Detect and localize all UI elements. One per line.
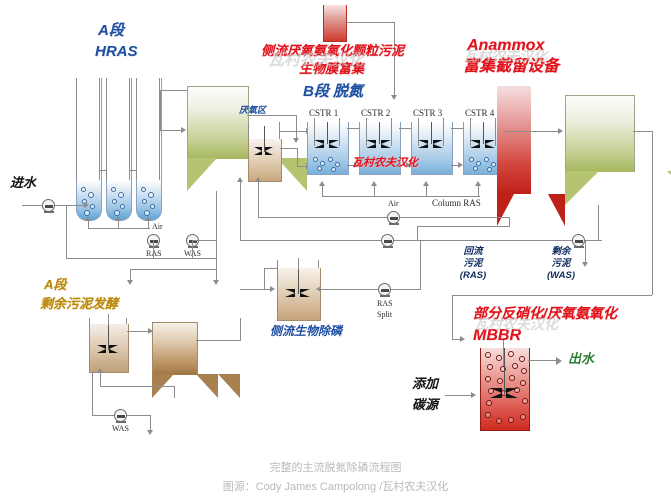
- ras-label-line2: 污泥: [448, 258, 498, 270]
- anaerobic-zone-mixer: [254, 126, 274, 160]
- ras-label-line1: 回流: [448, 246, 498, 258]
- was-label-line1: 剩余: [536, 246, 586, 258]
- cstr-4-label: CSTR 4: [465, 108, 494, 118]
- inline-watermark: 瓦村农夫汉化: [352, 157, 418, 170]
- air-label-b: Air: [388, 199, 399, 208]
- watermark-top: 瓦村农夫汉化: [268, 52, 364, 70]
- fermentation-title-line2: 剩余污泥发酵: [40, 297, 118, 312]
- cstr-3-label: CSTR 3: [413, 108, 442, 118]
- fermentation-title-line1: A段: [44, 278, 66, 293]
- watermark-anammox: 瓦村农夫汉化: [463, 48, 547, 64]
- ras-return-pump: [381, 234, 394, 247]
- cstr-1-label: CSTR 1: [309, 108, 338, 118]
- column-ras-pump: [387, 211, 400, 224]
- ras-sludge-label: 回流 污泥 (RAS): [448, 246, 498, 282]
- cstr-2-mixer: [366, 122, 392, 152]
- cstr-1-mixer: [314, 122, 340, 152]
- final-clarifier: [565, 95, 633, 205]
- a-stage-title-line1: A段: [98, 22, 124, 39]
- was-label-line3: (WAS): [536, 270, 586, 282]
- ras-split-label-line2: Split: [377, 310, 392, 319]
- carbon-source-label-line2: 碳源: [412, 398, 438, 413]
- fermentation-mixer: [96, 324, 120, 358]
- process-flow-diagram: A段 HRAS 进水 Air: [0, 0, 671, 500]
- influent-label: 进水: [10, 176, 36, 191]
- anoxic-zone-label: 厌氧区: [239, 105, 266, 115]
- a-stage-title-line2: HRAS: [95, 43, 138, 60]
- influent-arrow: [84, 202, 89, 208]
- b-stage-title: B段 脱氮: [303, 83, 363, 100]
- ras-split-pump: [378, 283, 391, 296]
- carbon-source-label-line1: 添加: [412, 377, 438, 392]
- was-pump-label-ferment: WAS: [112, 424, 129, 433]
- cstr-3-mixer: [418, 122, 444, 152]
- effluent-label: 出水: [568, 352, 594, 367]
- anammox-retention-device: [497, 86, 531, 226]
- air-label-a: Air: [152, 222, 163, 231]
- sidestream-anammox-tank: [323, 5, 347, 42]
- sidestream-bio-p-title: 侧流生物除磷: [270, 325, 342, 339]
- mbbr-mixer: [490, 348, 518, 404]
- was-sludge-label: 剩余 污泥 (WAS): [536, 246, 586, 282]
- caption-line2: 图源：Cody James Campolong /瓦村农夫汉化: [0, 481, 671, 494]
- influent-pump: [42, 199, 55, 212]
- watermark-mbbr: 瓦村农夫汉化: [474, 316, 558, 332]
- caption-line1: 完整的主流脱氮除磷流程图: [0, 462, 671, 475]
- sidestream-bio-p-mixer: [285, 268, 311, 304]
- fermentation-was-pump: [114, 409, 127, 422]
- a-stage-clarifier: [187, 86, 247, 191]
- ras-split-label-line1: RAS: [377, 299, 393, 308]
- cstr-4-mixer: [470, 122, 496, 152]
- ras-label-line3: (RAS): [448, 270, 498, 282]
- was-label-line2: 污泥: [536, 258, 586, 270]
- cstr-2-label: CSTR 2: [361, 108, 390, 118]
- column-ras-label: Column RAS: [432, 198, 481, 208]
